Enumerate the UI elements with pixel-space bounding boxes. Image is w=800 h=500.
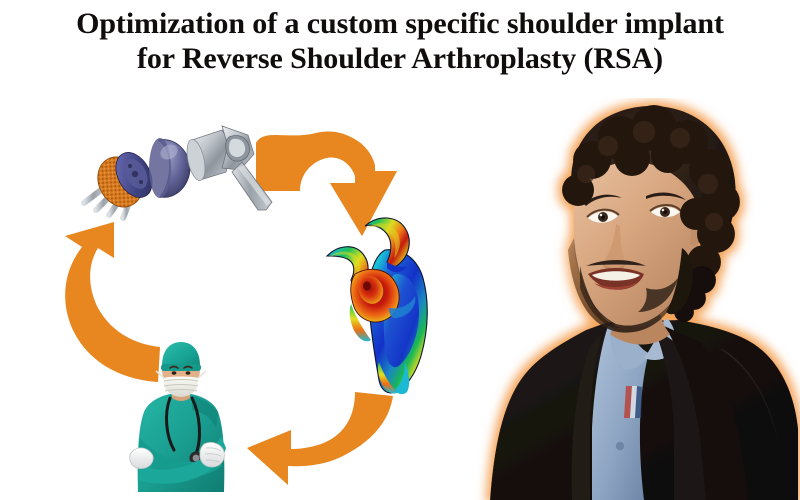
researcher-portrait: [468, 98, 800, 500]
surgeon-caption: Surgeon in teal scrubs with cap, face ma…: [0, 0, 1, 1]
title-line-1: Optimization of a custom specific should…: [0, 6, 800, 41]
poster-canvas: Optimization of a custom specific should…: [0, 0, 800, 500]
page-title: Optimization of a custom specific should…: [0, 6, 800, 76]
cycle-caption: Design-analysis-surgery iterative workfl…: [0, 0, 1, 1]
surgeon-figure: [118, 340, 243, 500]
fea-caption: Finite element analysis colour map of th…: [0, 0, 1, 1]
portrait-caption: Smiling young man with dark curly hair a…: [0, 0, 1, 1]
scapula-finite-element-stress-map: [305, 212, 465, 402]
shoulder-implant-exploded-view: [72, 110, 277, 220]
implant-caption: Exploded view of reverse shoulder implan…: [0, 0, 1, 1]
curved-arrow-fea-to-surgeon-icon: [243, 392, 398, 492]
workflow-cycle-diagram: [0, 95, 500, 500]
title-line-2: for Reverse Shoulder Arthroplasty (RSA): [0, 41, 800, 76]
